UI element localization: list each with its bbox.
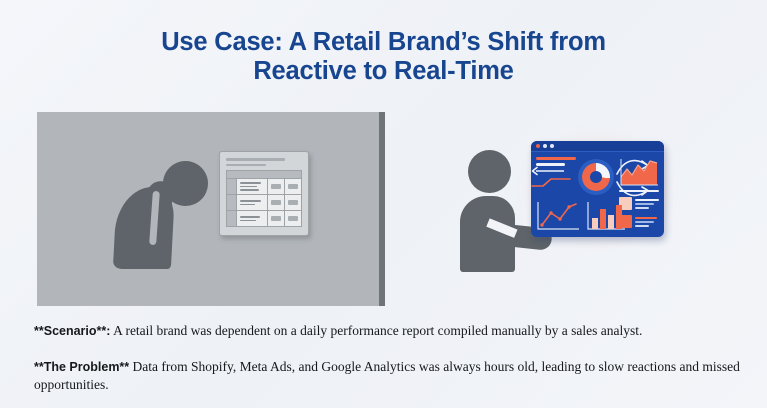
kpi-text-lines xyxy=(635,217,659,227)
window-minimize-dot-icon xyxy=(543,144,547,148)
problem-text: Data from Shopify, Meta Ads, and Google … xyxy=(34,359,740,392)
kpi-line xyxy=(635,217,657,219)
title-line-2: Reactive to Real-Time xyxy=(0,57,767,86)
left-arrow-icon xyxy=(531,166,565,176)
row-text-line xyxy=(240,220,256,222)
value-chip xyxy=(288,216,298,221)
report-table-header-row xyxy=(227,171,301,179)
row-value-cell xyxy=(285,195,301,210)
table-row xyxy=(227,195,301,211)
kpi-line xyxy=(635,203,654,205)
table-row xyxy=(227,211,301,226)
scenario-text: A retail brand was dependent on a daily … xyxy=(110,323,642,338)
slumped-analyst-figure xyxy=(115,159,225,269)
scenario-paragraph: **Scenario**: A retail brand was depende… xyxy=(34,322,744,340)
table-row xyxy=(227,179,301,195)
confident-figure-head xyxy=(468,150,511,193)
kpi-line xyxy=(635,199,659,201)
row-text-line xyxy=(240,186,257,188)
problem-lead: **The Problem** xyxy=(34,360,129,374)
row-value-cell xyxy=(268,195,285,210)
kpi-text-lines xyxy=(635,199,659,209)
row-index-cell xyxy=(227,195,237,210)
row-text-line xyxy=(240,204,255,206)
line-chart xyxy=(536,200,580,232)
scenario-lead: **Scenario**: xyxy=(34,324,110,338)
kpi-line xyxy=(635,225,649,227)
kpi-line xyxy=(635,221,654,223)
panel-right-edge xyxy=(379,112,385,306)
value-chip xyxy=(271,216,281,221)
manual-spreadsheet-report xyxy=(219,151,309,236)
row-text-line xyxy=(240,216,260,218)
zigzag-trend-icon xyxy=(531,177,571,188)
row-value-cell xyxy=(268,179,285,194)
row-value-cell xyxy=(285,179,301,194)
row-text-cell xyxy=(237,211,268,226)
value-chip xyxy=(271,200,281,205)
dashboard-divider xyxy=(619,190,659,192)
report-header-line-2 xyxy=(226,164,266,167)
row-text-line xyxy=(240,200,261,202)
row-value-cell xyxy=(285,211,301,226)
row-text-cell xyxy=(237,195,268,210)
area-chart xyxy=(619,157,659,187)
kpi-line xyxy=(635,207,649,209)
problem-paragraph: **The Problem** Data from Shopify, Meta … xyxy=(34,358,744,394)
title-line-1: Use Case: A Retail Brand’s Shift from xyxy=(0,28,767,57)
donut-chart xyxy=(576,157,616,197)
value-chip xyxy=(288,200,298,205)
row-text-line xyxy=(240,189,259,191)
row-index-cell xyxy=(227,179,237,194)
row-value-cell xyxy=(268,211,285,226)
slide-canvas: Use Case: A Retail Brand’s Shift from Re… xyxy=(0,0,767,408)
window-close-dot-icon xyxy=(536,144,540,148)
dashboard-titlebar xyxy=(531,141,664,152)
donut-center-hole xyxy=(590,171,602,183)
right-scene-realtime xyxy=(455,130,670,290)
dashboard-body xyxy=(531,152,664,237)
value-chip xyxy=(288,184,298,189)
analytics-dashboard-window xyxy=(531,141,664,237)
progress-bar-orange xyxy=(536,157,576,160)
report-header-line-1 xyxy=(226,158,285,161)
row-index-cell xyxy=(227,211,237,226)
bar-chart xyxy=(586,200,626,232)
report-table xyxy=(226,170,302,227)
row-text-line xyxy=(240,182,261,184)
window-maximize-dot-icon xyxy=(550,144,554,148)
page-title: Use Case: A Retail Brand’s Shift from Re… xyxy=(0,28,767,86)
row-text-cell xyxy=(237,179,268,194)
left-scene-reactive xyxy=(37,112,385,306)
value-chip xyxy=(271,184,281,189)
